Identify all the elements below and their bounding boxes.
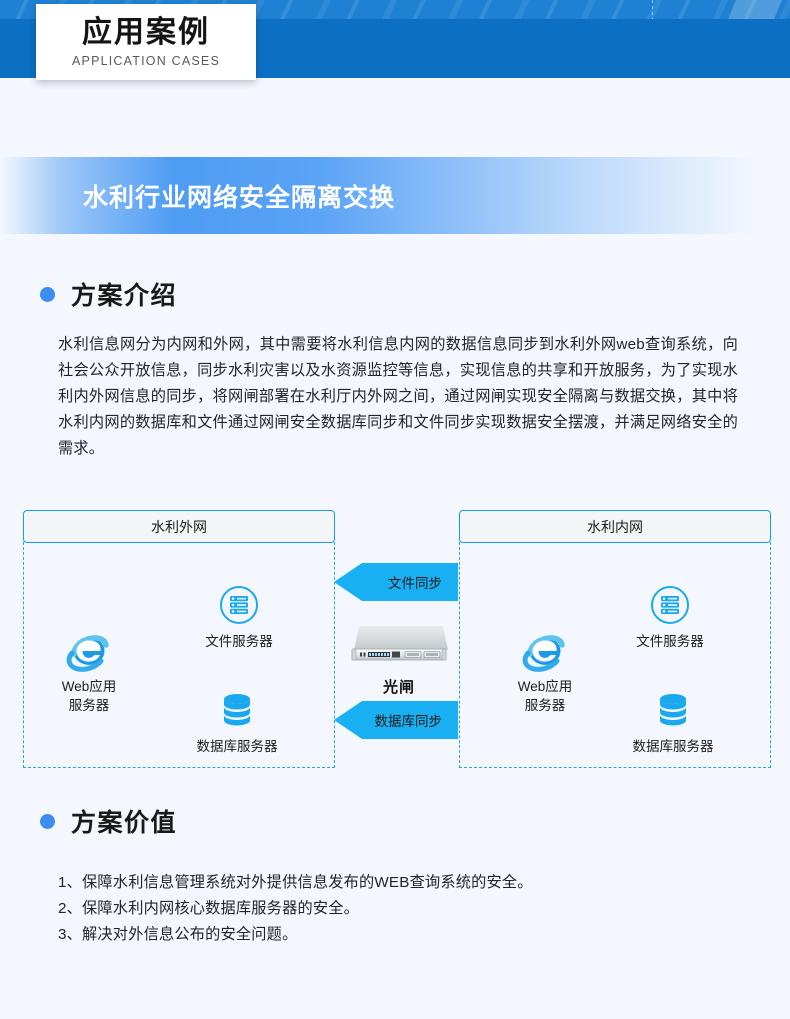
page-title-en: APPLICATION CASES	[72, 54, 220, 68]
inner-web-server-label-2: 服务器	[525, 696, 566, 715]
outer-web-server-node: Web应用 服务器	[34, 627, 144, 715]
outer-web-server-label-2: 服务器	[69, 696, 110, 715]
outer-web-server-label-1: Web应用	[62, 677, 117, 696]
outer-db-server-node: 数据库服务器	[182, 687, 292, 756]
outer-network-box: 水利外网	[23, 510, 335, 768]
file-sync-label: 文件同步	[388, 572, 442, 592]
outer-network-body: 文件服务器 Web应用 服务器	[23, 542, 335, 768]
inner-file-server-label: 文件服务器	[636, 632, 704, 651]
heading-value: 方案价值	[40, 803, 177, 839]
file-server-icon	[219, 582, 259, 628]
intro-paragraph: 水利信息网分为内网和外网，其中需要将水利信息内网的数据信息同步到水利外网web查…	[58, 332, 738, 462]
heading-intro-label: 方案介绍	[71, 276, 177, 312]
database-icon	[654, 687, 692, 733]
page-title-cn: 应用案例	[82, 16, 210, 50]
inner-web-server-label-1: Web应用	[518, 677, 573, 696]
application-case-page: 应用案例 APPLICATION CASES 水利行业网络安全隔离交换 方案介绍…	[0, 0, 790, 1019]
gateway-device: 光闸	[347, 622, 451, 697]
inner-network-body: 文件服务器 Web应用 服务器	[459, 542, 771, 768]
outer-network-header: 水利外网	[23, 510, 335, 543]
value-list: 1、保障水利信息管理系统对外提供信息发布的WEB查询系统的安全。 2、保障水利内…	[58, 870, 748, 948]
inner-network-header: 水利内网	[459, 510, 771, 543]
section-title-bar: 水利行业网络安全隔离交换	[0, 157, 790, 234]
section-title-text: 水利行业网络安全隔离交换	[83, 178, 395, 214]
bullet-dot-icon	[40, 287, 55, 302]
inner-file-server-node: 文件服务器	[615, 582, 725, 651]
list-item: 1、保障水利信息管理系统对外提供信息发布的WEB查询系统的安全。	[58, 870, 748, 896]
gateway-column: 文件同步	[334, 505, 458, 777]
internet-explorer-icon	[522, 627, 568, 673]
page-title-card: 应用案例 APPLICATION CASES	[36, 4, 256, 80]
heading-intro: 方案介绍	[40, 276, 177, 312]
outer-file-server-label: 文件服务器	[205, 632, 273, 651]
list-item: 3、解决对外信息公布的安全问题。	[58, 922, 748, 948]
internet-explorer-icon	[66, 627, 112, 673]
inner-web-server-node: Web应用 服务器	[490, 627, 600, 715]
db-sync-arrow: 数据库同步	[334, 701, 458, 739]
inner-db-server-node: 数据库服务器	[618, 687, 728, 756]
bullet-dot-icon	[40, 814, 55, 829]
architecture-diagram: 水利外网	[0, 505, 790, 777]
gateway-label: 光闸	[383, 676, 415, 697]
outer-file-server-node: 文件服务器	[184, 582, 294, 651]
outer-db-server-label: 数据库服务器	[197, 737, 278, 756]
inner-network-box: 水利内网	[459, 510, 771, 768]
banner-dashed-divider	[652, 0, 653, 19]
file-server-icon	[650, 582, 690, 628]
database-icon	[218, 687, 256, 733]
rack-server-icon	[347, 622, 451, 671]
list-item: 2、保障水利内网核心数据库服务器的安全。	[58, 896, 748, 922]
heading-value-label: 方案价值	[71, 803, 177, 839]
db-sync-label: 数据库同步	[375, 710, 443, 730]
file-sync-arrow: 文件同步	[334, 563, 458, 601]
inner-db-server-label: 数据库服务器	[633, 737, 714, 756]
